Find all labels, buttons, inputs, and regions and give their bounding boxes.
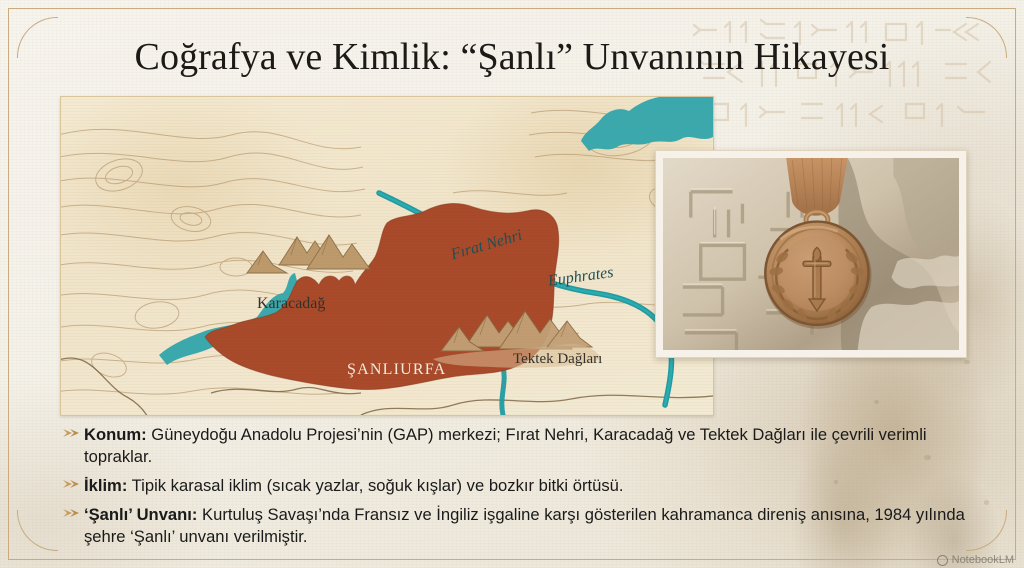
map-grain-overlay [61,97,713,415]
corner-accent-bottom-left [17,510,58,551]
chevron-arrow-icon [62,427,84,442]
notebooklm-watermark: NotebookLM [937,554,1014,566]
watermark-label: NotebookLM [952,554,1014,566]
list-item: Konum: Güneydoğu Anadolu Projesi’nin (GA… [62,424,967,468]
notebooklm-logo-icon [937,555,948,566]
bullet-body: Tipik karasal iklim (sıcak yazlar, soğuk… [127,476,623,495]
bullet-body: Kurtuluş Savaşı’nda Fransız ve İngiliz i… [84,505,965,546]
bullet-text: Konum: Güneydoğu Anadolu Projesi’nin (GA… [84,424,967,468]
page-title: Coğrafya ve Kimlik: “Şanlı” Unvanının Hi… [0,36,1024,79]
medal-photo-card [655,150,967,358]
list-item: İklim: Tipik karasal iklim (sıcak yazlar… [62,475,967,497]
bullet-list: Konum: Güneydoğu Anadolu Projesi’nin (GA… [62,424,967,555]
bullet-lead: İklim: [84,476,127,495]
bullet-body: Güneydoğu Anadolu Projesi’nin (GAP) merk… [84,425,927,466]
list-item: ‘Şanlı’ Unvanı: Kurtuluş Savaşı’nda Fran… [62,504,967,548]
corner-accent-bottom-right [966,510,1007,551]
medal-photo-image [663,158,959,350]
medal-illustration-icon [663,158,959,350]
bullet-lead: ‘Şanlı’ Unvanı: [84,505,197,524]
chevron-arrow-icon [62,478,84,493]
bullet-text: İklim: Tipik karasal iklim (sıcak yazlar… [84,475,967,497]
bullet-lead: Konum: [84,425,147,444]
chevron-arrow-icon [62,507,84,522]
bullet-text: ‘Şanlı’ Unvanı: Kurtuluş Savaşı’nda Fran… [84,504,967,548]
slide-root: Coğrafya ve Kimlik: “Şanlı” Unvanının Hi… [0,0,1024,568]
region-map: Karacadağ Tektek Dağları ŞANLIURFA Fırat… [60,96,714,416]
